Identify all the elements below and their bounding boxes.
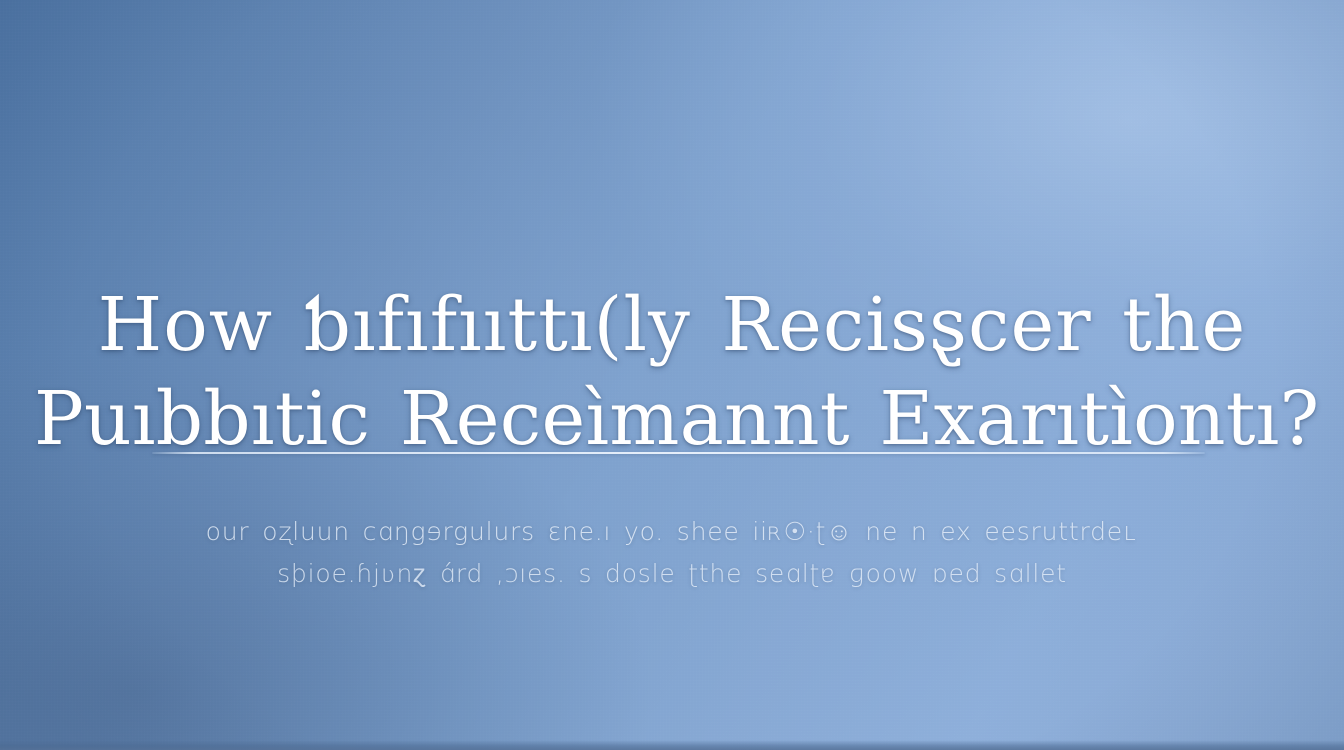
- title-slide: How ƅıfıfııttı(ly Recisȿcer the Puıbbıti…: [0, 0, 1344, 750]
- page-subtitle-line-2: sþioe.ɦjʋnɀ ɑ́rd ,ɔıes. s dosle ʈthe seɑ…: [130, 553, 1214, 595]
- slide-content: How ƅıfıfııttı(ly Recisȿcer the Puıbbıti…: [0, 0, 1344, 750]
- title-divider: [152, 452, 1205, 454]
- page-subtitle-line-1: our oʐluun cɑŋgɘrgulurs ɛne.ı yo. shee i…: [130, 511, 1214, 553]
- page-title-line-1: How ƅıfıfııttı(ly Recisȿcer the: [34, 278, 1310, 372]
- page-subtitle: our oʐluun cɑŋgɘrgulurs ɛne.ı yo. shee i…: [0, 511, 1344, 595]
- page-title: How ƅıfıfııttı(ly Recisȿcer the Puıbbıti…: [0, 278, 1344, 466]
